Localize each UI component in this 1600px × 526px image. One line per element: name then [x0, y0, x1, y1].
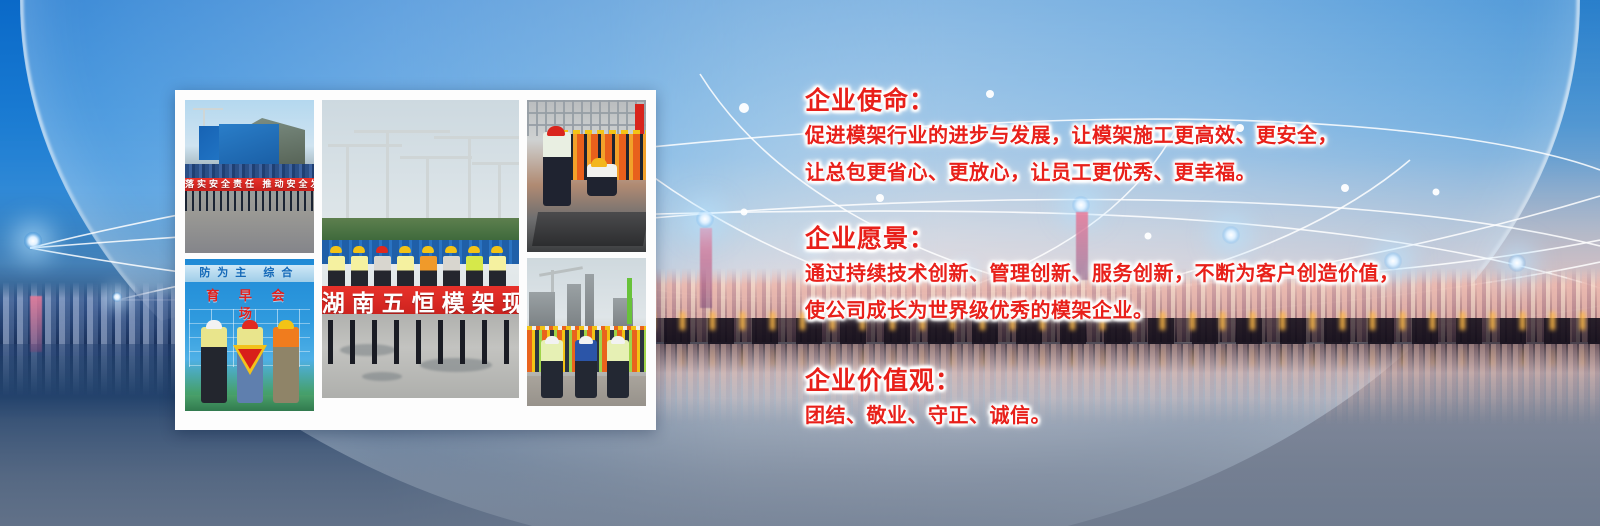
- helmet-shape: [353, 246, 365, 253]
- person-shape: [575, 340, 597, 398]
- photo-site-group-banner[interactable]: 湖南五恒模架现场: [322, 100, 520, 398]
- treeline-shape: [322, 218, 520, 240]
- mission-block: 企业使命： 促进模架行业的进步与发展，让模架施工更高效、更安全， 让总包更省心、…: [805, 84, 1595, 192]
- crane-mast: [426, 156, 429, 218]
- helmet-shape: [399, 246, 411, 253]
- values-heading: 企业价值观：: [805, 364, 1595, 398]
- vision-line-2: 使公司成长为世界级优秀的模架企业。: [805, 293, 1595, 330]
- photo-three-workers-pennant[interactable]: 防为主 综合 育 早 会 场: [185, 259, 314, 411]
- crane-mast: [498, 162, 501, 218]
- building-shape: [585, 274, 594, 326]
- collage-column-right: [527, 100, 646, 420]
- light-node: [112, 292, 122, 302]
- vision-line-1: 通过持续技术创新、管理创新、服务创新，不断为客户创造价值，: [805, 256, 1595, 293]
- helmet-shape: [376, 246, 388, 253]
- spacer: [805, 340, 1595, 364]
- photo-collage[interactable]: 落实安全责任 推动安全发展 防为主 综合 育 早 会 场: [175, 90, 656, 430]
- light-tower: [700, 228, 712, 308]
- person-shape: [541, 340, 563, 398]
- squatting-worker-shape: [587, 164, 617, 196]
- crane-jib: [354, 130, 450, 133]
- building-shape: [567, 284, 581, 326]
- helmet-shape: [330, 246, 342, 253]
- helmet-shape: [491, 246, 503, 253]
- crane-jib: [328, 144, 402, 147]
- helmet-shape: [611, 336, 625, 344]
- mission-line-2: 让总包更省心、更放心，让员工更优秀、更幸福。: [805, 155, 1595, 192]
- values-block: 企业价值观： 团结、敬业、守正、诚信。: [805, 364, 1595, 435]
- collage-column-left: 落实安全责任 推动安全发展 防为主 综合 育 早 会 场: [185, 100, 314, 420]
- person-shape: [607, 340, 629, 398]
- photo-crane-assembly[interactable]: [527, 258, 646, 406]
- worker-shape: [273, 327, 299, 403]
- helmet-shape: [422, 246, 434, 253]
- helmet-shape: [591, 158, 607, 167]
- helmet-shape: [545, 336, 559, 344]
- collage-column-center: 湖南五恒模架现场: [322, 100, 520, 420]
- instructor-shape: [543, 132, 571, 206]
- backdrop-red-text: 育 早 会 场: [191, 287, 308, 305]
- crowd-legs-shape: [185, 191, 314, 213]
- light-node: [24, 232, 42, 250]
- vision-block: 企业愿景： 通过持续技术创新、管理创新、服务创新，不断为客户创造价值， 使公司成…: [805, 222, 1595, 330]
- billboard-shape: [219, 124, 279, 164]
- culture-text-panel: 企业使命： 促进模架行业的进步与发展，让模架施工更高效、更安全， 让总包更省心、…: [805, 84, 1595, 445]
- helmet-shape: [579, 336, 593, 344]
- rubber-mat-shape: [532, 212, 646, 246]
- helmet-shape: [278, 320, 294, 329]
- ground-shape: [185, 211, 314, 253]
- helmet-shape: [206, 320, 222, 329]
- photo-rally-billboard[interactable]: 落实安全责任 推动安全发展: [185, 100, 314, 253]
- backdrop-top-band: 防为主 综合: [185, 265, 314, 282]
- crane-mast: [468, 136, 471, 218]
- crane-jib: [400, 156, 472, 159]
- helmet-shape: [468, 246, 480, 253]
- values-line-1: 团结、敬业、守正、诚信。: [805, 398, 1595, 435]
- crane-jib: [434, 136, 520, 139]
- crane-jib: [472, 162, 520, 165]
- puddle-shape: [362, 372, 402, 381]
- helmet-shape: [445, 246, 457, 253]
- crane-boom-green: [627, 278, 632, 324]
- backdrop-top-text: 防为主 综合: [185, 265, 314, 282]
- worker-shape: [201, 327, 227, 403]
- mission-line-1: 促进模架行业的进步与发展，让模架施工更高效、更安全，: [805, 118, 1595, 155]
- photo-caption: 落实安全责任 推动安全发展: [185, 178, 314, 191]
- hero-banner: 落实安全责任 推动安全发展 防为主 综合 育 早 会 场: [0, 0, 1600, 526]
- building-shape: [529, 292, 555, 326]
- light-node: [696, 210, 714, 228]
- spacer: [805, 202, 1595, 222]
- helmet-shape: [547, 126, 565, 136]
- helmet-shape: [242, 320, 258, 329]
- mission-heading: 企业使命：: [805, 84, 1595, 118]
- photo-safety-demo[interactable]: [527, 100, 646, 252]
- crane-mast: [386, 130, 389, 218]
- vision-heading: 企业愿景：: [805, 222, 1595, 256]
- light-tower: [30, 296, 42, 352]
- crane-jib: [539, 266, 583, 277]
- crane-mast: [346, 144, 349, 218]
- people-legs-shape: [328, 320, 514, 364]
